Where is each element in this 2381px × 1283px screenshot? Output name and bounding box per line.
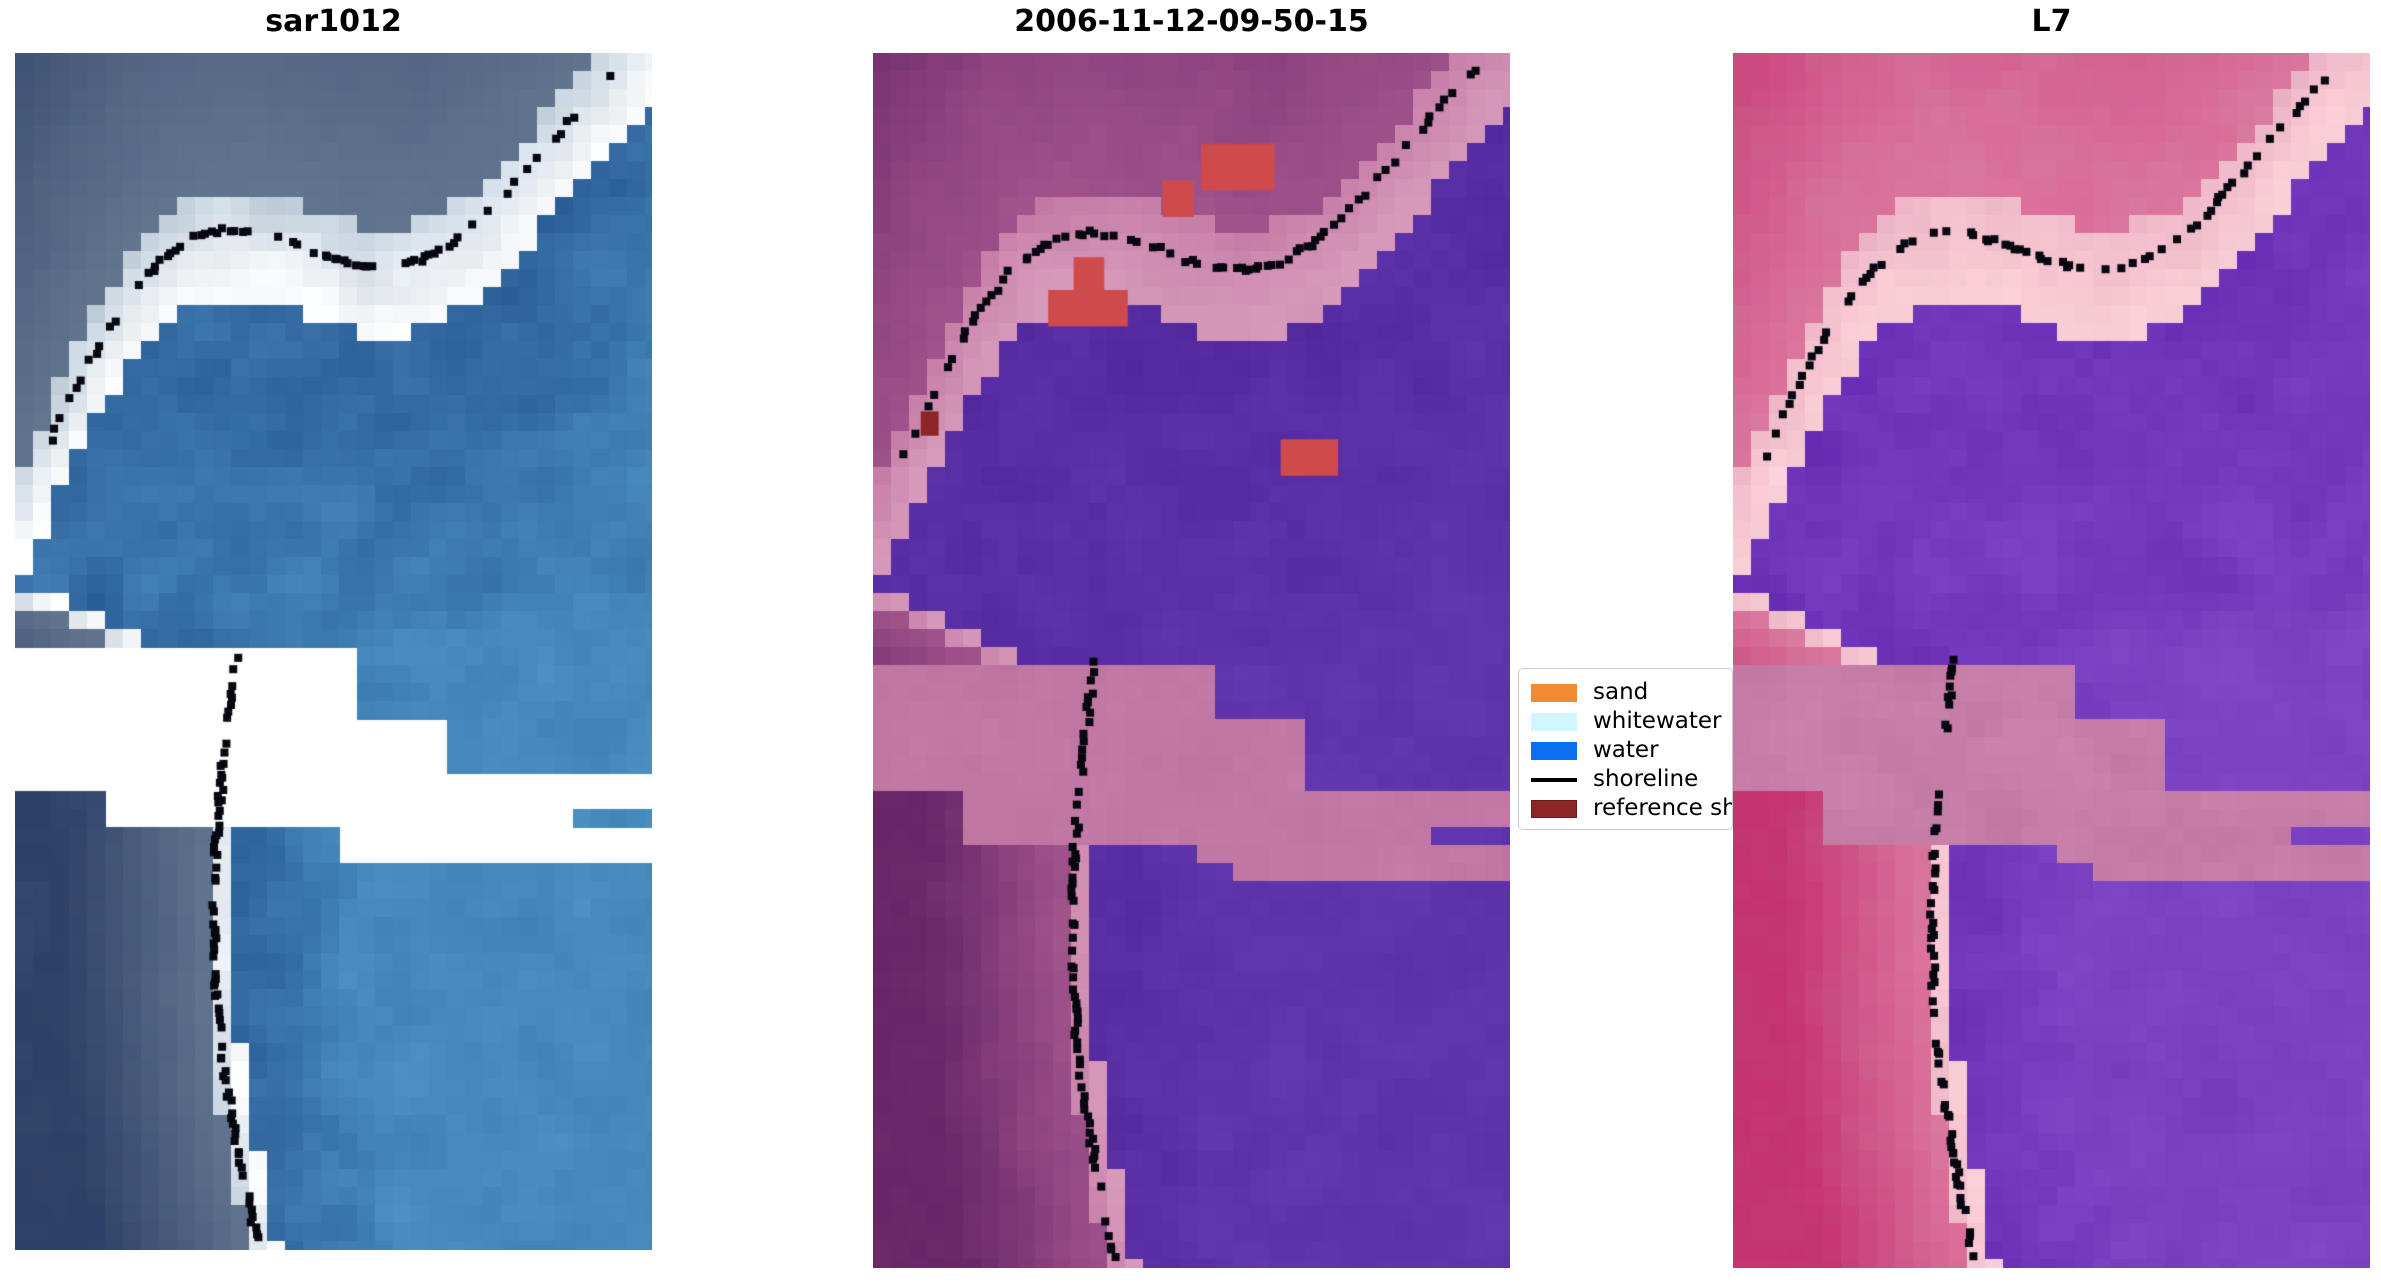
legend-item-water[interactable]: water: [1531, 736, 1722, 765]
panel-l7[interactable]: [1733, 53, 2370, 1268]
classified-raster: [873, 53, 1510, 1268]
reference-shoreline-swatch: [1531, 800, 1577, 818]
legend-label-shoreline: shoreline: [1593, 768, 1698, 791]
panel-classified[interactable]: [873, 53, 1510, 1268]
legend-box[interactable]: sand whitewater water shoreline referenc…: [1518, 668, 1733, 830]
panel-title-l7: L7: [1733, 4, 2370, 39]
whitewater-swatch: [1531, 713, 1577, 731]
classified-raster-canvas: [873, 53, 1510, 1268]
legend-item-whitewater[interactable]: whitewater: [1531, 707, 1722, 736]
sar-shoreline-overlay: [15, 53, 652, 1250]
legend-item-shoreline[interactable]: shoreline: [1531, 765, 1722, 794]
legend-label-water: water: [1593, 739, 1659, 762]
l7-raster: [1733, 53, 2370, 1268]
legend-label-whitewater: whitewater: [1593, 710, 1721, 733]
legend-label-reference-shoreline: reference sho: [1593, 797, 1733, 820]
legend-item-sand[interactable]: sand: [1531, 678, 1722, 707]
sand-swatch: [1531, 684, 1577, 702]
legend-label-sand: sand: [1593, 681, 1648, 704]
panel-title-classified: 2006-11-12-09-50-15: [873, 4, 1510, 39]
legend-item-reference-shoreline[interactable]: reference sho: [1531, 794, 1722, 823]
figure-canvas: sar1012 2006-11-12-09-50-15 L7 sand whit…: [0, 0, 2381, 1283]
shoreline-swatch: [1531, 778, 1577, 782]
panel-title-sar: sar1012: [15, 4, 652, 39]
l7-raster-canvas: [1733, 53, 2370, 1268]
panel-sar1012[interactable]: [15, 53, 652, 1250]
water-swatch: [1531, 742, 1577, 760]
